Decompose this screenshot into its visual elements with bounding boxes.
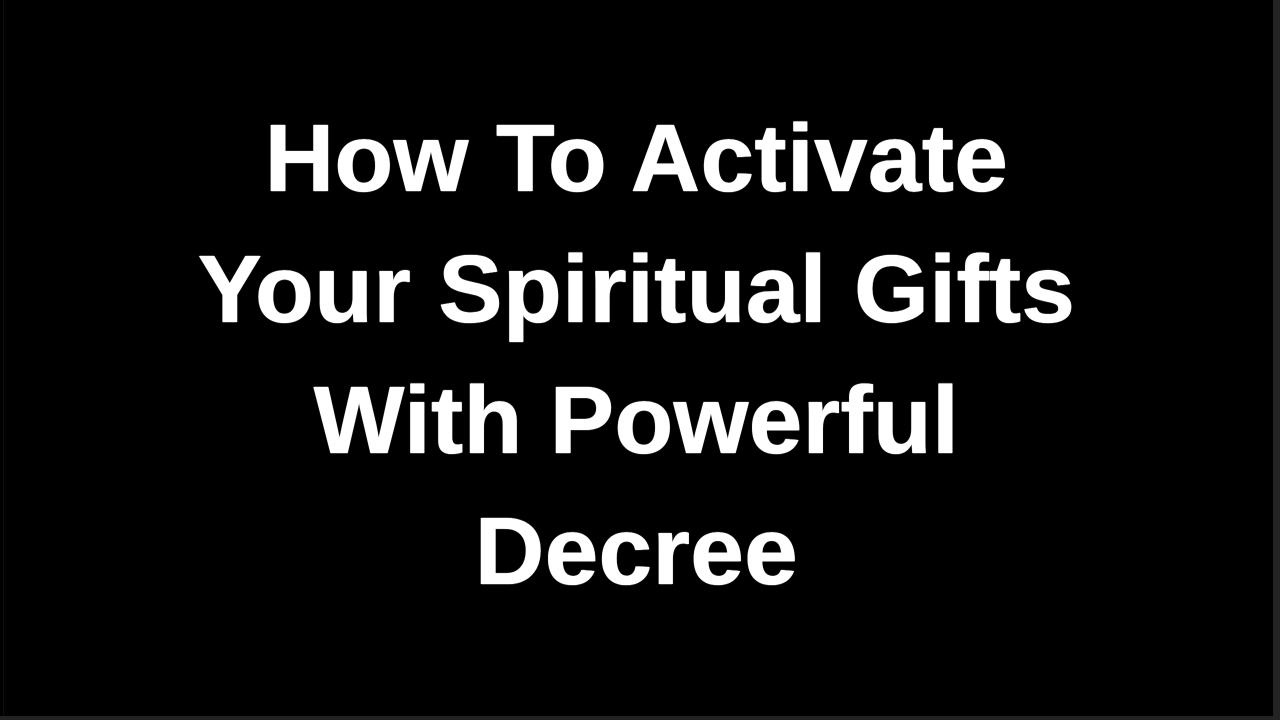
- title-text-block: How To Activate Your Spiritual Gifts Wit…: [0, 0, 1273, 716]
- player-progress-bar-track[interactable]: [0, 716, 1280, 720]
- title-line-2: Your Spiritual Gifts: [0, 224, 1273, 355]
- player-right-edge-bar: [1273, 0, 1280, 720]
- title-line-1: How To Activate: [0, 93, 1273, 224]
- video-title-card-screen: How To Activate Your Spiritual Gifts Wit…: [0, 0, 1280, 720]
- title-line-4: Decree: [0, 486, 1273, 617]
- video-surface[interactable]: How To Activate Your Spiritual Gifts Wit…: [0, 0, 1273, 716]
- title-line-3: With Powerful: [0, 355, 1273, 486]
